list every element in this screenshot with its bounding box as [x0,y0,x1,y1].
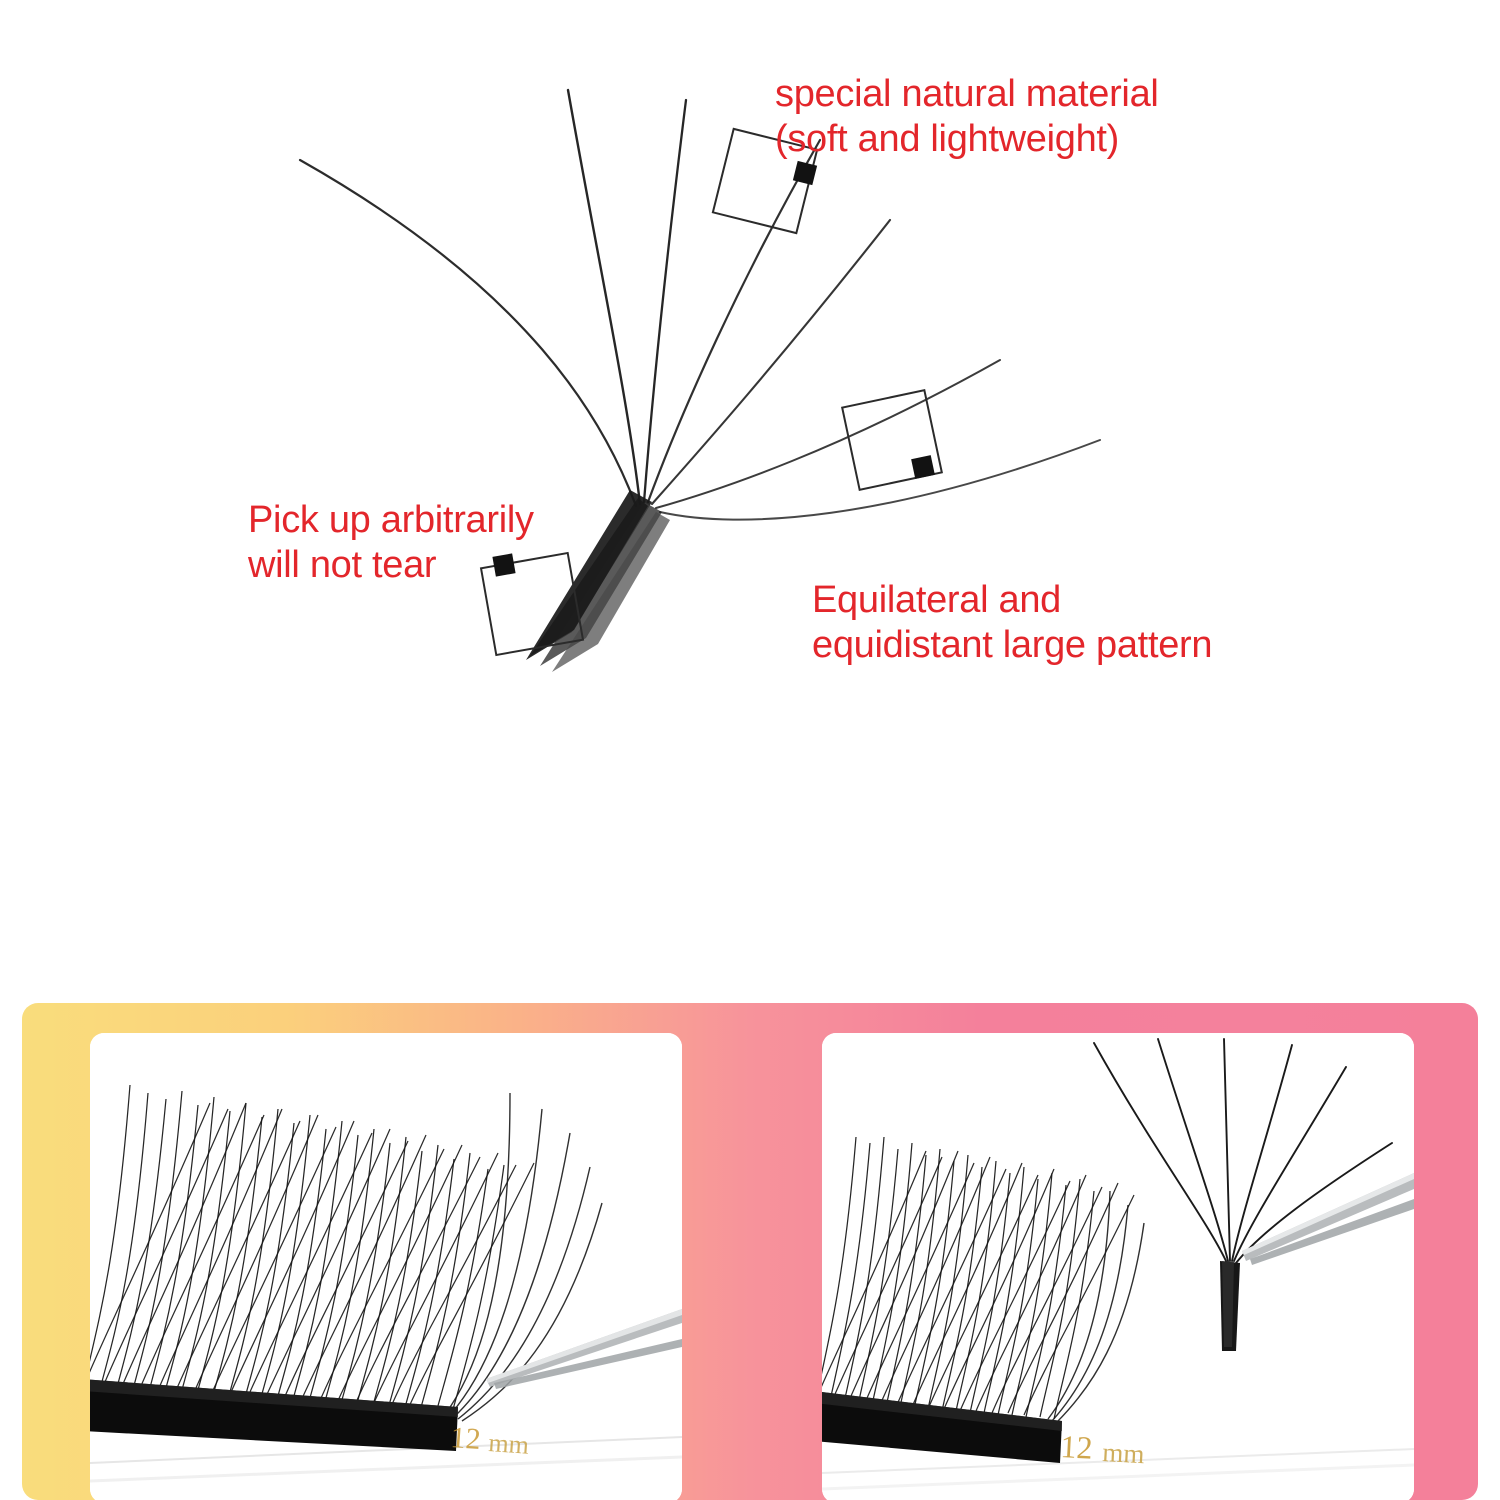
callout-special-natural-material: special natural material (soft and light… [775,72,1159,162]
callout-pick-up-arbitrarily: Pick up arbitrarily will not tear [248,498,534,588]
promo-banner: EASY TO USE & SAVING TIME No skills need… [0,765,1500,975]
svg-text:12: 12 [450,1421,482,1456]
photo-left-canvas: 12 mm [90,1033,682,1500]
feature-diagram-section: special natural material (soft and light… [0,0,1500,765]
svg-text:mm: mm [1102,1437,1146,1469]
product-photo-lash-fan-pickup[interactable]: 12 mm [822,1033,1414,1500]
svg-text:12: 12 [1060,1428,1094,1466]
product-photo-lash-tray-with-tweezers[interactable]: 12 mm [90,1033,682,1500]
photo-right-canvas: 12 mm [822,1033,1414,1500]
gallery-gradient-frame: 12 mm [22,1003,1478,1500]
callout-marker-middle [842,390,942,490]
callout-equilateral-equidistant: Equilateral and equidistant large patter… [812,578,1212,668]
svg-text:mm: mm [488,1428,530,1460]
product-photo-gallery-section: 12 mm [0,975,1500,1500]
promo-banner-title: EASY TO USE & SAVING TIME [60,789,1440,874]
promo-banner-subtitle: No skills needed.Get blooming lash effec… [53,891,1448,936]
lash-fan-base [526,490,670,672]
